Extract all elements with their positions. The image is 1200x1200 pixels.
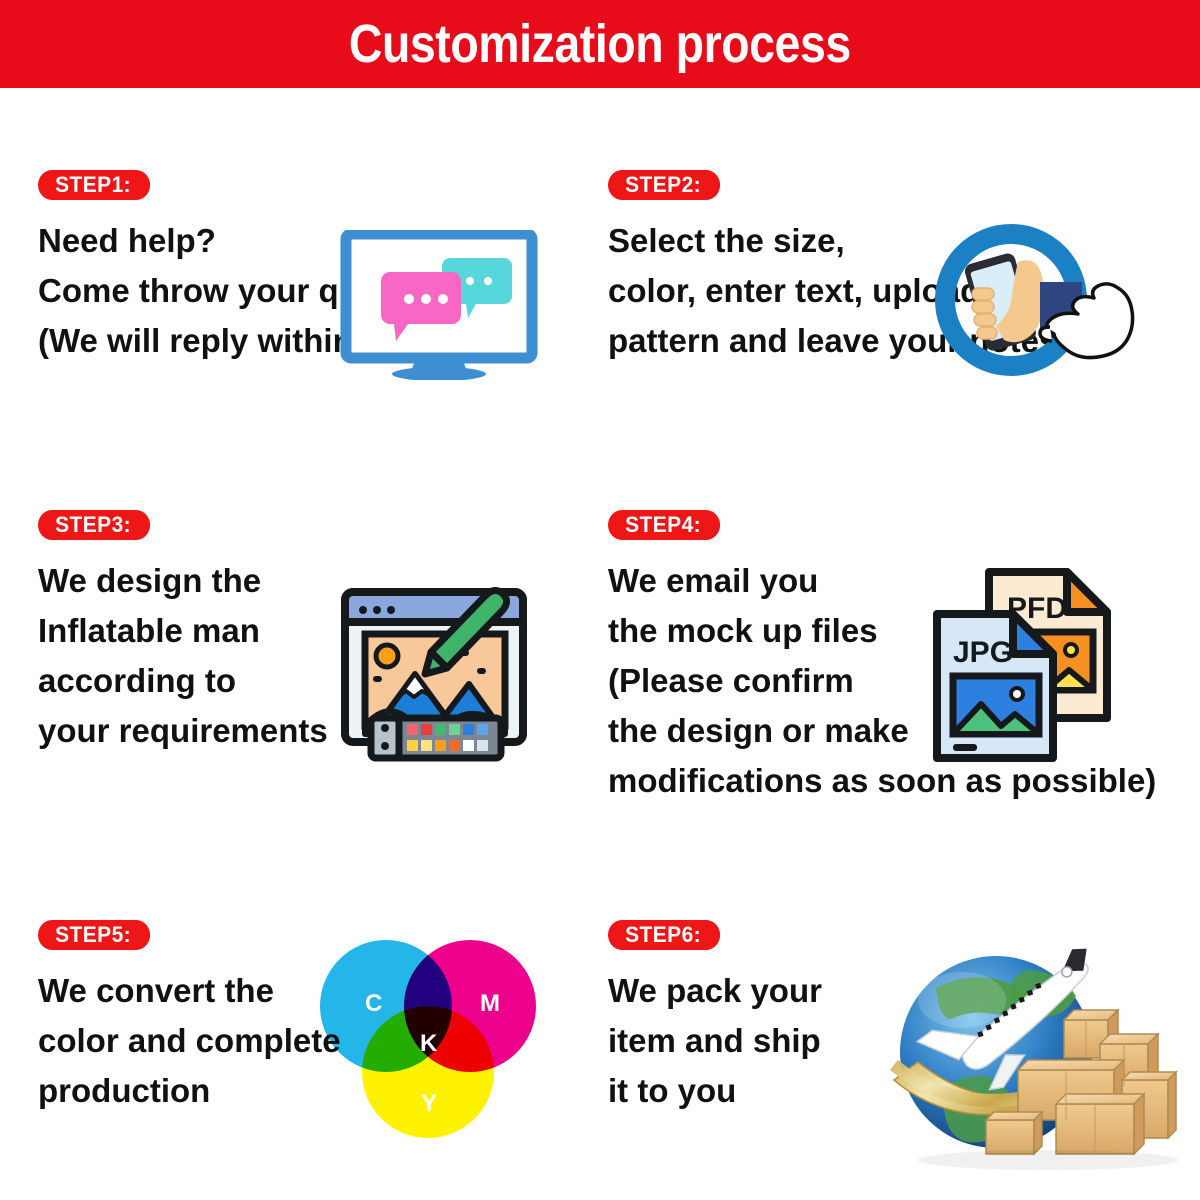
step-4: STEP4: We email you the mock up files (P… [608, 510, 1188, 910]
step-1-badge: STEP1: [38, 170, 150, 200]
design-window-stylus-icon [333, 568, 543, 768]
step-6: STEP6: We pack your item and ship it to … [608, 920, 1188, 1190]
step-3-badge: STEP3: [38, 510, 150, 540]
step-2: STEP2: Select the size, color, enter tex… [608, 170, 1188, 500]
step-6-badge: STEP6: [608, 920, 720, 950]
file-formats-icon: PFD JPG [923, 558, 1123, 773]
cyan-label: C [365, 992, 382, 1016]
step-3: STEP3: We design the Inflatable man acco… [38, 510, 598, 910]
step-5-badge: STEP5: [38, 920, 150, 950]
page-header-banner: Customization process [0, 0, 1200, 88]
step-2-badge: STEP2: [608, 170, 720, 200]
yellow-label: Y [421, 1092, 437, 1116]
page-title: Customization process [349, 17, 851, 71]
step-4-badge: STEP4: [608, 510, 720, 540]
hand-tap-phone-icon [926, 222, 1151, 382]
globe-airplane-boxes-icon [878, 934, 1198, 1179]
step-1: STEP1: Need help? Come throw your questi… [38, 170, 598, 500]
step-5: STEP5: We convert the color and complete… [38, 920, 598, 1190]
monitor-chat-icon [338, 230, 548, 385]
magenta-label: M [480, 992, 500, 1016]
key-label: K [420, 1032, 437, 1056]
file-front-label: JPG [953, 636, 1013, 669]
steps-grid: STEP1: Need help? Come throw your questi… [0, 88, 1200, 1200]
yellow-circle [362, 1006, 494, 1138]
cmyk-venn-icon: C M Y K [320, 940, 560, 1140]
